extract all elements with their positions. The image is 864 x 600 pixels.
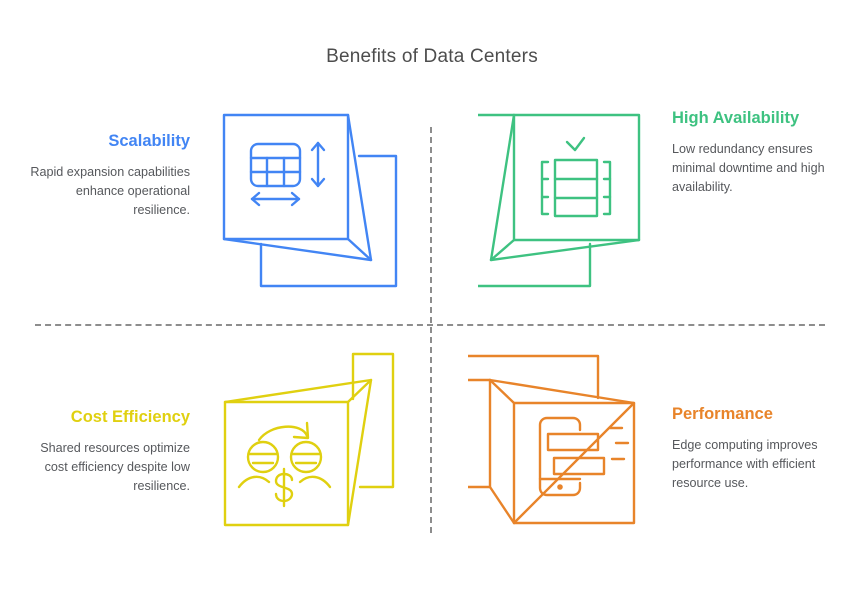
arrow-horizontal-resize-icon [252,193,299,205]
quadrant-text-scalability: Scalability Rapid expansion capabilities… [24,131,190,221]
quadrant-text-performance: Performance Edge computing improves perf… [672,404,838,494]
quadrant-text-cost-efficiency: Cost Efficiency Shared resources optimiz… [24,407,190,497]
illustration-performance [468,352,663,552]
box-back-panel [261,156,396,286]
quadrant-heading-availability: High Availability [672,108,838,128]
box-front-panel [225,402,348,525]
box-front-panel [224,115,348,239]
illustration-scalability [218,104,418,309]
quadrant-body-scalability: Rapid expansion capabilities enhance ope… [24,163,190,220]
quadrant-body-performance: Edge computing improves performance with… [672,436,838,493]
arrow-vertical-resize-icon [312,143,324,186]
coin-right-icon [291,442,321,472]
table-grid-icon [251,144,300,186]
quadrant-text-availability: High Availability Low redundancy ensures… [672,108,838,198]
swoosh-right [300,477,330,487]
box-front-panel [514,115,639,240]
coin-left-icon [248,442,278,472]
quadrant-heading-cost-efficiency: Cost Efficiency [24,407,190,427]
divider-vertical [430,127,432,533]
server-rack-icon [542,160,610,216]
quadrant-heading-scalability: Scalability [24,131,190,151]
speed-lines-icon [610,428,628,459]
illustration-cost-efficiency [208,342,408,547]
box-back-panel [353,354,393,487]
quadrant-body-availability: Low redundancy ensures minimal downtime … [672,140,838,197]
quadrant-body-cost-efficiency: Shared resources optimize cost efficienc… [24,439,190,496]
dollar-sign-icon [276,469,292,506]
illustration-availability [478,104,668,309]
page-title: Benefits of Data Centers [0,46,864,68]
recycle-arrow-icon [259,423,308,440]
box-back-panel [468,356,598,398]
swoosh-left [239,477,269,487]
mobile-device-icon [540,418,604,495]
check-icon [567,138,584,150]
box-edge-side [490,487,514,523]
box-back-panel-lower [468,380,490,487]
quadrant-heading-performance: Performance [672,404,838,424]
